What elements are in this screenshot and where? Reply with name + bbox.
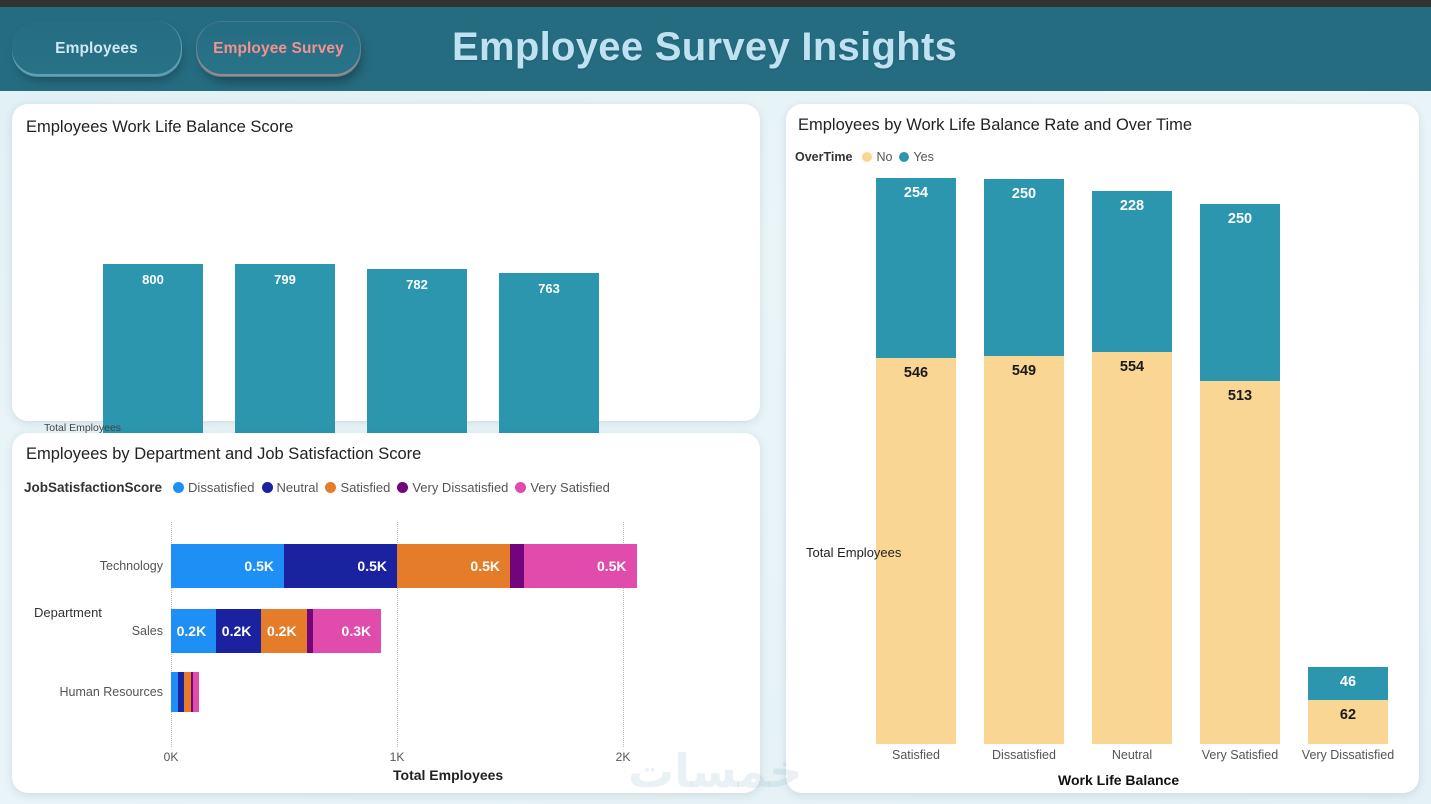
legend-item-no[interactable]: No: [862, 150, 892, 164]
legend-title-overtime: OverTime: [795, 150, 852, 164]
stacked-segment[interactable]: [510, 544, 524, 588]
legend-item-very-satisfied[interactable]: Very Satisfied: [515, 480, 610, 495]
tab-employees-label: Employees: [55, 40, 138, 58]
dashboard-header: Employees Employee Survey Employee Surve…: [0, 7, 1431, 91]
chart3-x-axis-title: Work Life Balance: [1058, 772, 1179, 788]
legend-item-neutral[interactable]: Neutral: [262, 480, 319, 495]
chart-plot-work-life-balance-overtime[interactable]: 254546Satisfied250549Dissatisfied228554N…: [862, 178, 1402, 744]
stacked-segment-yes[interactable]: 228: [1092, 191, 1172, 352]
stacked-segment[interactable]: 0.5K: [524, 544, 637, 588]
stacked-bar-column[interactable]: 250549Dissatisfied: [984, 178, 1064, 744]
legend-swatch-icon: [325, 482, 336, 493]
chart-title-work-life-balance-score: Employees Work Life Balance Score: [26, 118, 294, 137]
legend-item-label: No: [876, 150, 892, 164]
stacked-bar-column[interactable]: 254546Satisfied: [876, 178, 956, 744]
legend-item-label: Neutral: [277, 480, 319, 495]
stacked-bar-column[interactable]: 228554Neutral: [1092, 178, 1172, 744]
segment-value-label: 228: [1092, 198, 1172, 214]
legend-item-label: Satisfied: [340, 480, 390, 495]
stacked-segment-yes[interactable]: 254: [876, 178, 956, 358]
legend-swatch-icon: [173, 482, 184, 493]
x-axis-tick-label: 2K: [616, 750, 631, 764]
stacked-segment-no[interactable]: 549: [984, 356, 1064, 744]
segment-value-label: 546: [876, 365, 956, 381]
legend-swatch-icon: [899, 152, 909, 162]
stacked-segment-no[interactable]: 62: [1308, 700, 1388, 744]
stacked-segment[interactable]: [193, 672, 200, 712]
legend-overtime: OverTime NoYes: [795, 150, 934, 164]
segment-value-label: 0.2K: [177, 623, 207, 639]
tab-employees[interactable]: Employees: [12, 21, 182, 77]
stacked-bar-row[interactable]: 0.2K0.2K0.2K0.3KSales: [171, 609, 381, 653]
segment-value-label: 0.2K: [222, 623, 252, 639]
legend-item-label: Dissatisfied: [188, 480, 254, 495]
stacked-segment[interactable]: [171, 672, 178, 712]
stacked-bar-column[interactable]: 4662Very Dissatisfied: [1308, 178, 1388, 744]
legend-item-yes[interactable]: Yes: [899, 150, 933, 164]
chart2-x-axis-title: Total Employees: [393, 767, 503, 783]
segment-value-label: 0.3K: [342, 623, 372, 639]
legend-item-satisfied[interactable]: Satisfied: [325, 480, 390, 495]
segment-value-label: 62: [1308, 707, 1388, 723]
segment-value-label: 0.5K: [597, 558, 627, 574]
stacked-segment[interactable]: 0.3K: [313, 609, 381, 653]
chart2-y-axis-title: Department: [34, 605, 102, 620]
chart-title-department-job-satisfaction: Employees by Department and Job Satisfac…: [26, 445, 421, 464]
bar-value-label: 782: [367, 277, 467, 292]
segment-value-label: 250: [984, 186, 1064, 202]
stacked-bar-column[interactable]: 250513Very Satisfied: [1200, 178, 1280, 744]
bar-value-label: 799: [235, 272, 335, 287]
stacked-segment-no[interactable]: 513: [1200, 381, 1280, 744]
x-axis-tick-label: 1K: [390, 750, 405, 764]
segment-value-label: 0.5K: [244, 558, 274, 574]
legend-swatch-icon: [515, 482, 526, 493]
x-axis-tick-label: 0K: [164, 750, 179, 764]
card-work-life-balance-score: Employees Work Life Balance Score 800Sat…: [12, 104, 760, 421]
x-axis-tick-label: Very Dissatisfied: [1282, 748, 1414, 762]
legend-swatch-icon: [862, 152, 872, 162]
stacked-bar-row[interactable]: 0.5K0.5K0.5K0.5KTechnology: [171, 544, 637, 588]
stacked-segment[interactable]: [184, 672, 191, 712]
stacked-segment-yes[interactable]: 250: [984, 179, 1064, 356]
legend-job-satisfaction-score: JobSatisfactionScore DissatisfiedNeutral…: [24, 480, 610, 495]
legend-item-label: Very Dissatisfied: [412, 480, 508, 495]
page-title: Employee Survey Insights: [452, 25, 957, 70]
segment-value-label: 254: [876, 185, 956, 201]
stacked-segment-yes[interactable]: 46: [1308, 667, 1388, 700]
tab-employee-survey[interactable]: Employee Survey: [196, 21, 361, 77]
segment-value-label: 46: [1308, 674, 1388, 690]
legend-swatch-icon: [262, 482, 273, 493]
legend-title-job-satisfaction: JobSatisfactionScore: [24, 480, 162, 495]
stacked-segment[interactable]: 0.5K: [397, 544, 510, 588]
chart-plot-department-job-satisfaction[interactable]: 0K1K2K0.5K0.5K0.5K0.5KTechnology0.2K0.2K…: [171, 522, 623, 747]
bar-value-label: 800: [103, 272, 203, 287]
stacked-segment[interactable]: 0.2K: [261, 609, 306, 653]
segment-value-label: 549: [984, 363, 1064, 379]
legend-item-label: Very Satisfied: [530, 480, 610, 495]
tab-employee-survey-label: Employee Survey: [213, 40, 344, 58]
stacked-segment[interactable]: 0.2K: [216, 609, 261, 653]
chart-title-work-life-balance-overtime: Employees by Work Life Balance Rate and …: [798, 116, 1192, 135]
chart3-y-axis-title: Total Employees: [806, 545, 901, 560]
stacked-segment-no[interactable]: 554: [1092, 352, 1172, 744]
y-axis-tick-label: Technology: [100, 559, 163, 573]
legend-item-dissatisfied[interactable]: Dissatisfied: [173, 480, 254, 495]
segment-value-label: 0.2K: [267, 623, 297, 639]
segment-value-label: 0.5K: [357, 558, 387, 574]
stacked-segment[interactable]: 0.5K: [171, 544, 284, 588]
stacked-bar-row[interactable]: Human Resources: [171, 672, 199, 712]
y-axis-tick-label: Sales: [132, 624, 163, 638]
legend-item-label: Yes: [913, 150, 933, 164]
stacked-segment[interactable]: [307, 609, 314, 653]
bar-value-label: 763: [499, 281, 599, 296]
nav-tabs: Employees Employee Survey: [12, 21, 361, 77]
dashboard-page: Employees Employee Survey Employee Surve…: [0, 0, 1431, 804]
stacked-segment[interactable]: 0.5K: [284, 544, 397, 588]
segment-value-label: 554: [1092, 359, 1172, 375]
segment-value-label: 0.5K: [470, 558, 500, 574]
stacked-segment-yes[interactable]: 250: [1200, 204, 1280, 381]
window-top-strip: [0, 0, 1431, 7]
legend-swatch-icon: [397, 482, 408, 493]
legend-item-very-dissatisfied[interactable]: Very Dissatisfied: [397, 480, 508, 495]
stacked-segment[interactable]: 0.2K: [171, 609, 216, 653]
y-axis-tick-label: Human Resources: [59, 685, 163, 699]
segment-value-label: 513: [1200, 388, 1280, 404]
segment-value-label: 250: [1200, 211, 1280, 227]
